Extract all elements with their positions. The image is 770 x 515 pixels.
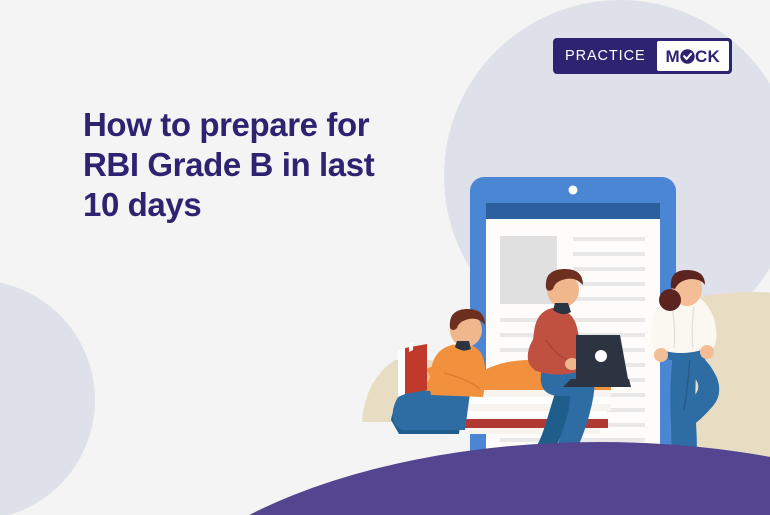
check-icon <box>680 49 695 64</box>
book-cover-front <box>405 344 427 394</box>
logo-word-mock: M CK <box>666 48 721 65</box>
book-pages-open <box>398 348 405 397</box>
promo-banner: How to prepare for RBI Grade B in last 1… <box>0 0 770 515</box>
practicemock-logo[interactable]: PRACTICE M CK <box>553 38 732 74</box>
woman-hand-right <box>700 345 714 359</box>
illustration-people-studying-with-tablet <box>0 0 770 515</box>
logo-letter-m: M <box>666 48 680 65</box>
woman-hair-bun <box>659 289 681 311</box>
laptop-logo-dot <box>595 350 607 362</box>
logo-word-practice: PRACTICE <box>556 41 657 71</box>
page-title: How to prepare for RBI Grade B in last 1… <box>83 105 443 225</box>
woman-hand-left <box>654 348 668 362</box>
reader-book <box>398 342 427 397</box>
tablet-header-bar <box>486 203 660 219</box>
logo-mock-box: M CK <box>657 41 730 71</box>
decor-ellipse-purple-foreground <box>120 442 770 515</box>
laptop-base <box>563 379 631 387</box>
logo-letters-ck: CK <box>695 48 720 65</box>
tablet-camera-dot <box>569 186 578 195</box>
